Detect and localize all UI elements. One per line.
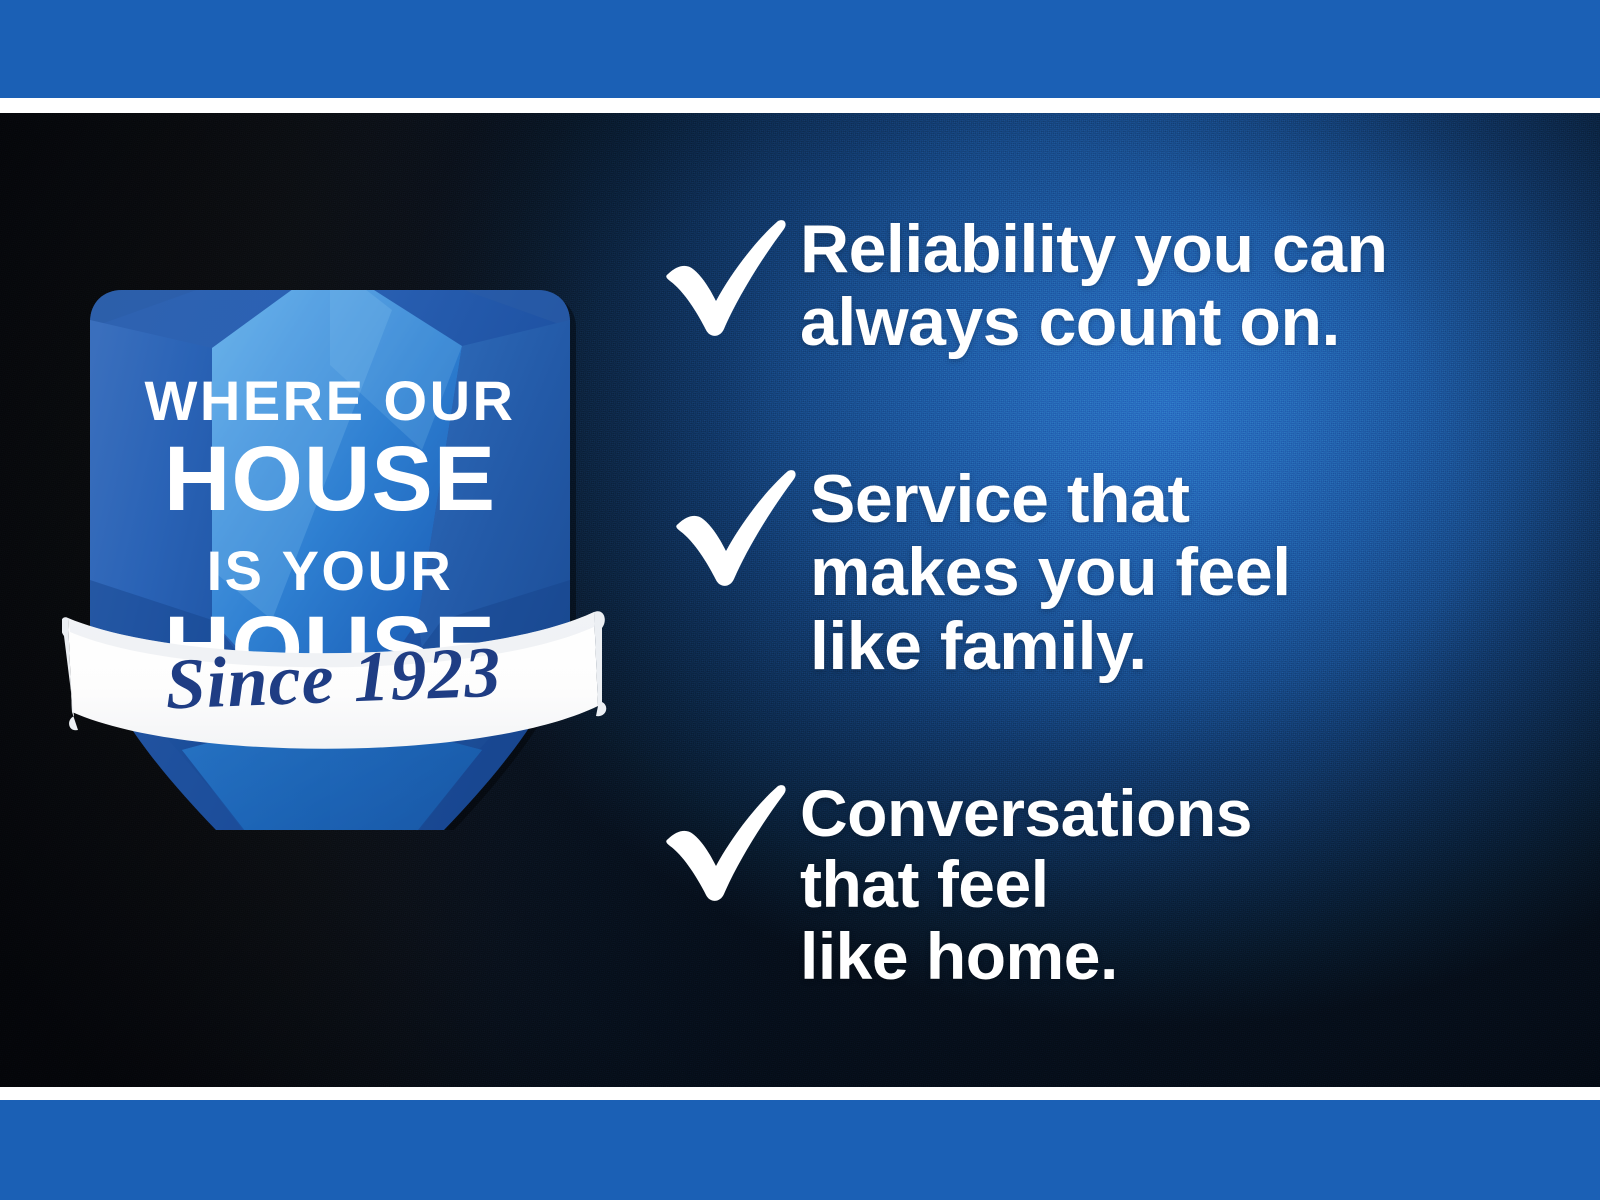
check-icon [660, 219, 790, 339]
benefit-text-3: Conversations that feel like home. [800, 778, 1252, 992]
benefit-text-2: Service that makes you feel like family. [810, 463, 1291, 683]
benefit-item-2: Service that makes you feel like family. [670, 463, 1291, 683]
ribbon-since-text: Since 1923 [164, 632, 503, 725]
check-icon [670, 469, 800, 589]
shield-graphic: WHERE OUR HOUSE IS YOUR HOUSE Since 1923 [62, 150, 622, 830]
logo-line-1: WHERE OUR [145, 369, 516, 432]
benefit-item-3: Conversations that feel like home. [660, 778, 1252, 992]
promo-graphic-canvas: WHERE OUR HOUSE IS YOUR HOUSE Since 1923 [0, 0, 1600, 1200]
benefit-item-1: Reliability you can always count on. [660, 213, 1388, 360]
shield-top-bevel [90, 180, 570, 290]
logo-line-2: HOUSE [164, 428, 496, 530]
top-brand-bar [0, 0, 1600, 98]
logo-line-3: IS YOUR [207, 539, 454, 602]
bottom-brand-bar [0, 1100, 1600, 1200]
logo-shield: WHERE OUR HOUSE IS YOUR HOUSE Since 1923 [62, 150, 622, 830]
check-icon [660, 784, 790, 904]
benefit-text-1: Reliability you can always count on. [800, 213, 1388, 360]
benefits-list: Reliability you can always count on. Ser… [660, 113, 1560, 1087]
